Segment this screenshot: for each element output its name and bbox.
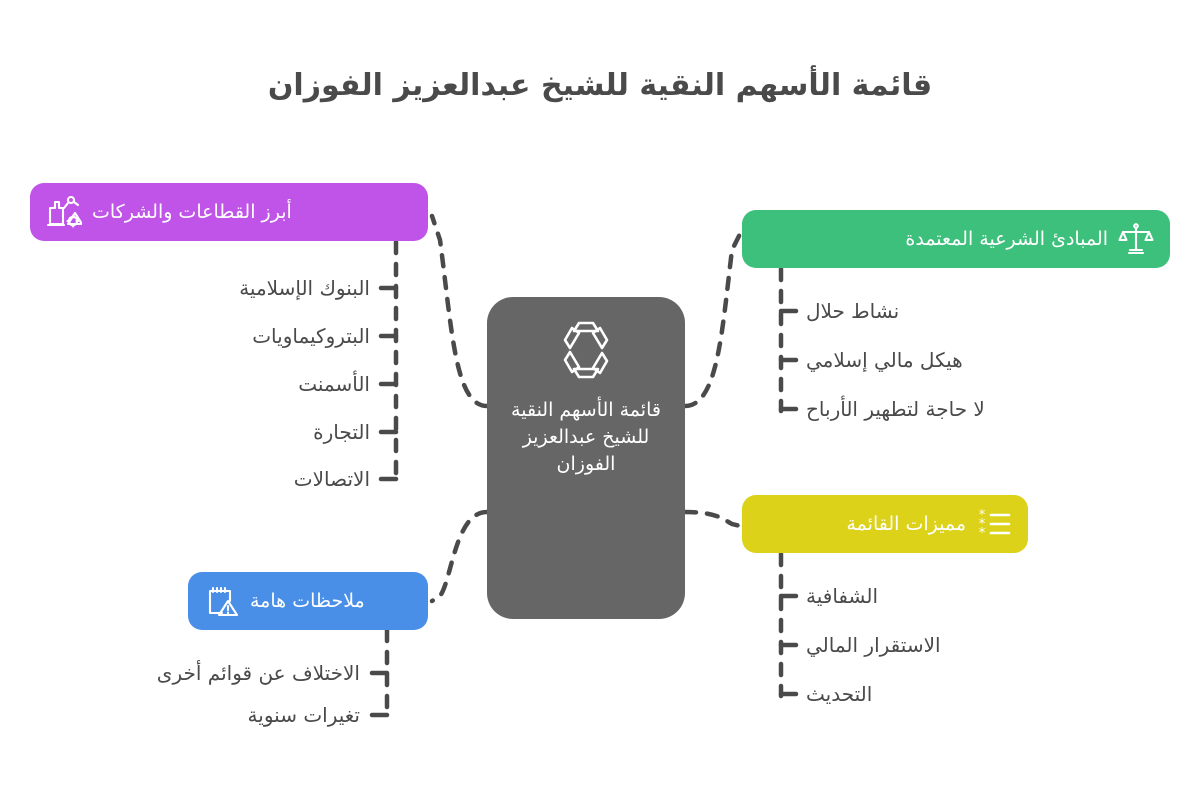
- hexagon-recycle-icon: [554, 319, 618, 381]
- central-node-label: قائمة الأسهم النقية للشيخ عبدالعزيز الفو…: [506, 397, 666, 478]
- central-node[interactable]: قائمة الأسهم النقية للشيخ عبدالعزيز الفو…: [487, 297, 685, 619]
- wire-central-to-principles: [685, 234, 740, 406]
- leaf-features-2: التحديث: [806, 682, 1136, 706]
- leaf-sectors-2: الأسمنت: [120, 372, 370, 396]
- balance-scales-icon: [1118, 221, 1154, 257]
- branch-head-principles-label: المبادئ الشرعية المعتمدة: [905, 228, 1108, 250]
- leaf-sectors-3: التجارة: [120, 420, 370, 444]
- leaf-notes-0: الاختلاف عن قوائم أخرى: [60, 661, 360, 685]
- leaf-notes-1: تغيرات سنوية: [60, 703, 360, 727]
- leaf-sectors-0: البنوك الإسلامية: [120, 276, 370, 300]
- branch-head-sectors-label: أبرز القطاعات والشركات: [92, 201, 292, 223]
- wire-central-to-features: [685, 512, 740, 526]
- branch-head-features-label: مميزات القائمة: [846, 513, 966, 535]
- factory-gear-icon: [46, 194, 82, 230]
- checklist-icon: * * *: [976, 506, 1012, 542]
- leaf-principles-0: نشاط حلال: [806, 299, 1136, 323]
- wire-central-to-notes: [432, 512, 487, 601]
- notepad-warning-icon: [204, 583, 240, 619]
- branch-head-sectors[interactable]: أبرز القطاعات والشركات: [30, 183, 428, 241]
- wire-central-to-sectors: [432, 216, 487, 406]
- leaf-principles-2: لا حاجة لتطهير الأرباح: [806, 397, 1136, 421]
- leaf-sectors-1: البتروكيماويات: [120, 324, 370, 348]
- leaf-principles-1: هيكل مالي إسلامي: [806, 348, 1136, 372]
- leaf-sectors-4: الاتصالات: [120, 467, 370, 491]
- leaf-features-0: الشفافية: [806, 584, 1136, 608]
- page-title: قائمة الأسهم النقية للشيخ عبدالعزيز الفو…: [0, 68, 1200, 103]
- branch-head-notes[interactable]: ملاحظات هامة: [188, 572, 428, 630]
- branch-head-principles[interactable]: المبادئ الشرعية المعتمدة: [742, 210, 1170, 268]
- branch-head-features[interactable]: مميزات القائمة * * *: [742, 495, 1028, 553]
- svg-text:*: *: [979, 526, 986, 541]
- mindmap-canvas: قائمة الأسهم النقية للشيخ عبدالعزيز الفو…: [0, 0, 1200, 800]
- leaf-features-1: الاستقرار المالي: [806, 633, 1136, 657]
- branch-head-notes-label: ملاحظات هامة: [250, 590, 365, 612]
